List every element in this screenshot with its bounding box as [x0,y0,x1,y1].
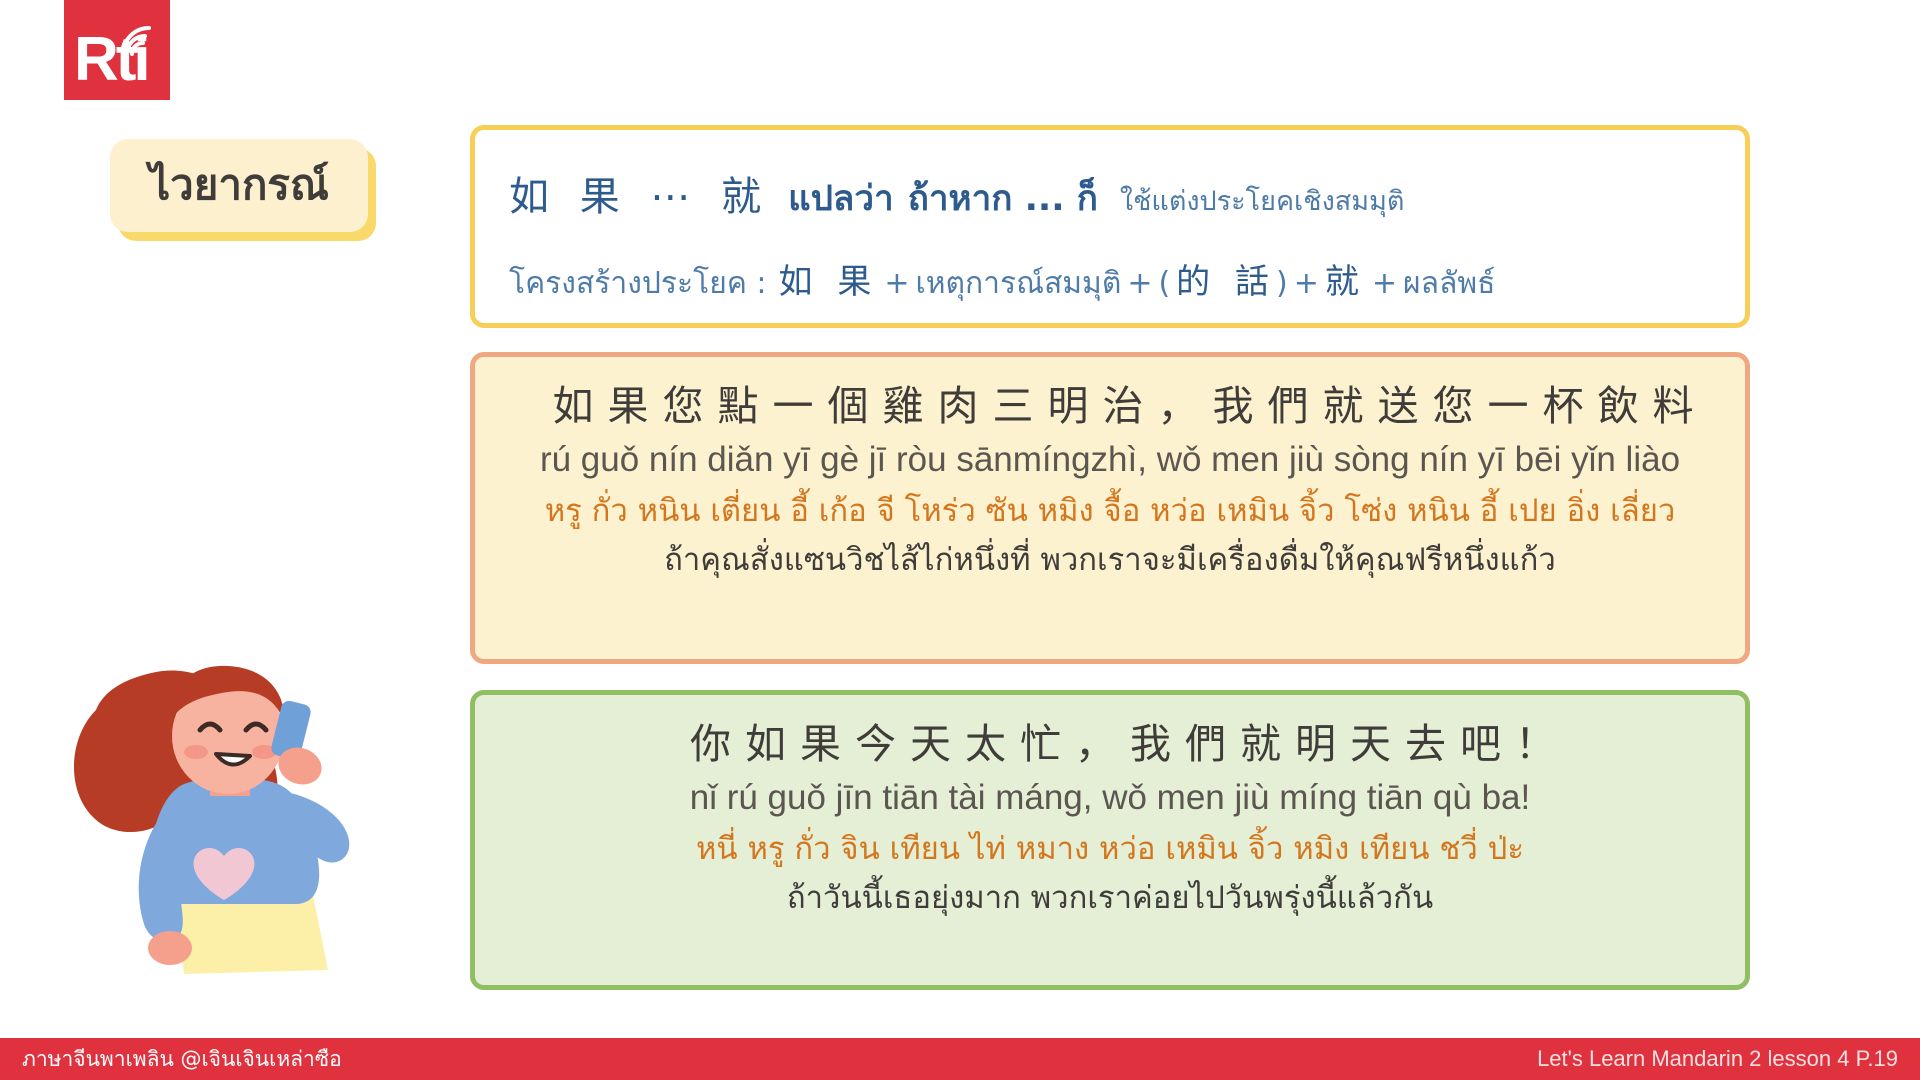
rule-plus-2: + [1121,266,1158,301]
example-1-thai-meaning: ถ้าคุณสั่งแซนวิชไส้ไก่หนึ่งที่ พวกเราจะม… [475,536,1745,586]
rule-usage-note: ใช้แต่งประโยคเชิงสมมุติ [1120,179,1405,222]
rule-structure-label: โครงสร้างประโยค : [509,260,767,307]
footer-credit: ภาษาจีนพาเพลิน @เจินเจินเหล่าซือ [22,1043,342,1076]
example-1-thai-transliteration: หรู กั่ว หนิน เตี่ยน อี้ เก้อ จี โหร่ว ซ… [475,487,1745,537]
grammar-rule-card: 如 果 ⋯ 就 แปลว่า ถ้าหาก ... ก็ ใช้แต่งประโ… [470,125,1750,328]
left-cheek [184,745,208,759]
example-2-hanzi: 你如果今天太忙，我們就明天去吧！ [475,717,1745,772]
example-2-pinyin: nǐ rú guǒ jīn tiān tài máng, wǒ men jiù … [475,772,1745,825]
rti-logo: Rti [64,0,170,100]
rule-structure-part-4: 就 [1325,254,1366,303]
rule-structure-part-1: 如 果 [779,254,879,303]
rule-thai-pattern: ถ้าหาก ... ก็ [908,171,1098,226]
rule-pattern-hanzi: 如 果 ⋯ 就 [509,164,770,222]
example-1-hanzi: 如果您點一個雞肉三明治，我們就送您一杯飲料 [475,379,1745,434]
grammar-tab-label: ไวยากรณ์ [149,162,329,208]
example-2-thai-meaning: ถ้าวันนี้เธอยุ่งมาก พวกเราค่อยไปวันพรุ่ง… [475,874,1745,924]
rule-pattern-line: 如 果 ⋯ 就 แปลว่า ถ้าหาก ... ก็ ใช้แต่งประโ… [509,164,1711,226]
wifi-signal-icon [117,16,161,60]
left-hand [148,931,192,965]
rule-structure-part-3: 的 話 [1176,254,1276,303]
rule-structure-part-5: ผลลัพธ์ [1403,260,1495,307]
example-1-pinyin: rú guǒ nín diǎn yī gè jī ròu sānmíngzhì,… [475,434,1745,487]
footer-source-reference: Let's Learn Mandarin 2 lesson 4 P.19 [1537,1046,1898,1072]
example-2-thai-transliteration: หนี่ หรู กั่ว จิน เทียน ไท่ หมาง หว่อ เห… [475,825,1745,875]
rule-paren-open: ( [1158,266,1170,301]
rule-means-label: แปลว่า [788,171,894,226]
rule-paren-close: ) [1276,266,1288,301]
rule-plus-4: + [1366,266,1403,301]
rule-structure-line: โครงสร้างประโยค : 如 果 + เหตุการณ์สมมุติ … [509,254,1711,307]
rule-plus-3: + [1288,266,1325,301]
woman-talking-on-phone-illustration [60,560,390,980]
footer-bar: ภาษาจีนพาเพลิน @เจินเจินเหล่าซือ Let's L… [0,1038,1920,1080]
example-card-1: 如果您點一個雞肉三明治，我們就送您一杯飲料 rú guǒ nín diǎn yī… [470,352,1750,664]
grammar-section-tab: ไวยากรณ์ [110,139,368,232]
rule-structure-part-2: เหตุการณ์สมมุติ [916,260,1122,307]
example-card-2: 你如果今天太忙，我們就明天去吧！ nǐ rú guǒ jīn tiān tài … [470,690,1750,990]
rule-plus-1: + [878,266,915,301]
